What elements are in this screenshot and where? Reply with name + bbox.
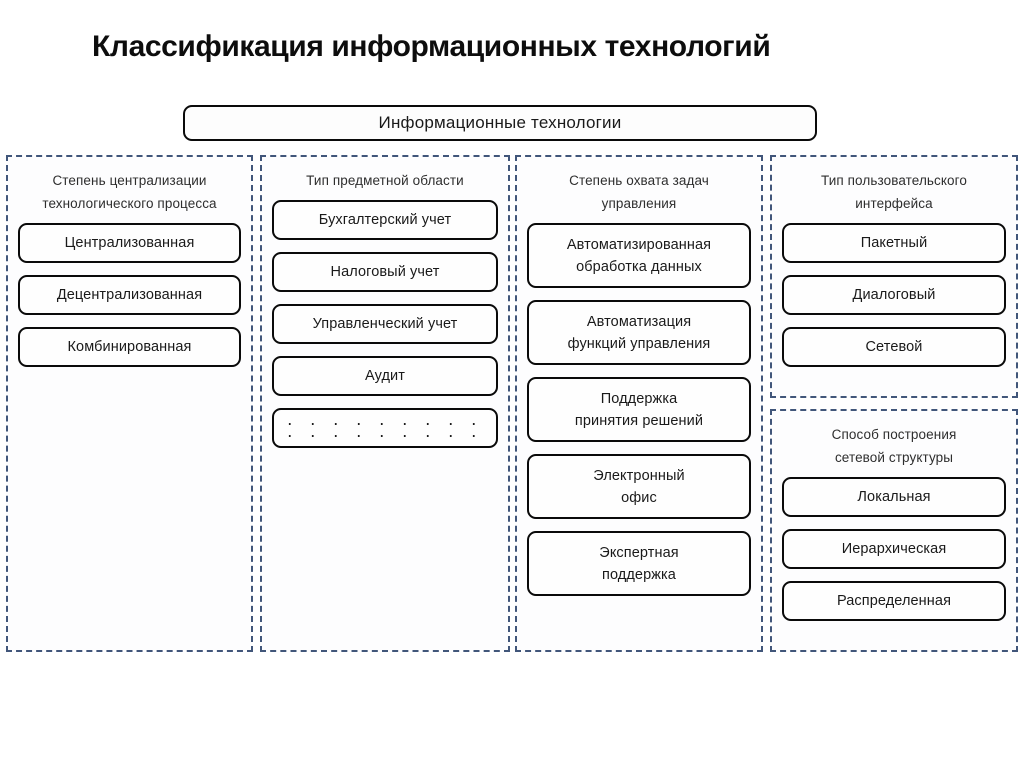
leaf-box[interactable]: Централизованная: [18, 223, 241, 263]
leaf-label-line-1: Экспертная: [599, 542, 678, 564]
leaf-box[interactable]: Управленческий учет: [272, 304, 498, 344]
leaf-box[interactable]: Иерархическая: [782, 529, 1006, 569]
leaf-box[interactable]: Автоматизированная обработка данных: [527, 223, 751, 288]
diagram-canvas: Классификация информационных технологий …: [0, 0, 1024, 768]
leaf-label: Пакетный: [857, 232, 932, 254]
group-title-centralization: Степень централизации технологического п…: [8, 157, 251, 223]
leaf-box[interactable]: Поддержка принятия решений: [527, 377, 751, 442]
leaf-box[interactable]: Диалоговый: [782, 275, 1006, 315]
leaf-box[interactable]: Бухгалтерский учет: [272, 200, 498, 240]
leaf-label: Сетевой: [861, 336, 926, 358]
group-title-line-1: Степень охвата задач: [523, 169, 755, 192]
group-title-line-1: Степень централизации: [14, 169, 245, 192]
leaf-label: Поддержка принятия решений: [571, 388, 707, 432]
leaf-box[interactable]: Комбинированная: [18, 327, 241, 367]
leaf-label: Аудит: [361, 365, 409, 387]
leaf-box[interactable]: Автоматизация функций управления: [527, 300, 751, 365]
group-title-line-2: интерфейса: [778, 192, 1010, 215]
leaf-label: . . . . . . . . . . . . . . . . . .: [274, 413, 496, 443]
leaf-label: Иерархическая: [838, 538, 951, 560]
leaf-label: Экспертная поддержка: [595, 542, 682, 586]
group-title-line-1: Тип пользовательского: [778, 169, 1010, 192]
group-title-line-1: Тип предметной области: [268, 169, 502, 192]
group-title-line-2: сетевой структуры: [778, 446, 1010, 469]
leaf-box[interactable]: Электронный офис: [527, 454, 751, 519]
leaf-label: Децентрализованная: [53, 284, 206, 306]
leaf-box[interactable]: Пакетный: [782, 223, 1006, 263]
group-title-user-interface: Тип пользовательского интерфейса: [772, 157, 1016, 223]
leaf-box[interactable]: Сетевой: [782, 327, 1006, 367]
leaf-label-line-2: обработка данных: [567, 256, 711, 278]
leaf-box[interactable]: Налоговый учет: [272, 252, 498, 292]
leaf-label: Диалоговый: [849, 284, 940, 306]
leaf-stack-user-interface: Пакетный Диалоговый Сетевой: [772, 223, 1016, 367]
leaf-label-line-1: Поддержка: [575, 388, 703, 410]
group-title-line-2: управления: [523, 192, 755, 215]
leaf-stack-network-build: Локальная Иерархическая Распределенная: [772, 477, 1016, 621]
group-title-subject-area: Тип предметной области: [262, 157, 508, 200]
leaf-label: Автоматизированная обработка данных: [563, 234, 715, 278]
leaf-box-ellipsis[interactable]: . . . . . . . . . . . . . . . . . .: [272, 408, 498, 448]
leaf-stack-centralization: Централизованная Децентрализованная Комб…: [8, 223, 251, 367]
leaf-box[interactable]: Децентрализованная: [18, 275, 241, 315]
group-title-coverage: Степень охвата задач управления: [517, 157, 761, 223]
leaf-label-line-1: Автоматизированная: [567, 234, 711, 256]
page-title: Классификация информационных технологий: [92, 30, 972, 64]
leaf-box[interactable]: Распределенная: [782, 581, 1006, 621]
leaf-box[interactable]: Локальная: [782, 477, 1006, 517]
leaf-label: Комбинированная: [64, 336, 196, 358]
group-panel-centralization: Степень централизации технологического п…: [6, 155, 253, 652]
leaf-label: Налоговый учет: [327, 261, 444, 283]
leaf-label-line-1: Автоматизация: [568, 311, 711, 333]
leaf-label: Распределенная: [833, 590, 955, 612]
root-node: Информационные технологии: [183, 105, 817, 141]
leaf-label-line-2: функций управления: [568, 333, 711, 355]
leaf-box[interactable]: Экспертная поддержка: [527, 531, 751, 596]
leaf-label: Автоматизация функций управления: [564, 311, 715, 355]
group-panel-subject-area: Тип предметной области Бухгалтерский уче…: [260, 155, 510, 652]
root-node-label: Информационные технологии: [379, 113, 622, 133]
leaf-label: Централизованная: [61, 232, 199, 254]
leaf-label: Бухгалтерский учет: [315, 209, 455, 231]
leaf-label: Управленческий учет: [309, 313, 462, 335]
leaf-label-line-2: офис: [593, 487, 684, 509]
group-title-line-1: Способ построения: [778, 423, 1010, 446]
leaf-label-line-2: принятия решений: [575, 410, 703, 432]
leaf-box[interactable]: Аудит: [272, 356, 498, 396]
leaf-stack-coverage: Автоматизированная обработка данных Авто…: [517, 223, 761, 596]
group-panel-network-build: Способ построения сетевой структуры Лока…: [770, 409, 1018, 652]
group-title-line-2: технологического процесса: [14, 192, 245, 215]
leaf-label-line-2: поддержка: [599, 564, 678, 586]
leaf-label: Локальная: [853, 486, 934, 508]
leaf-label: Электронный офис: [589, 465, 688, 509]
group-panel-coverage: Степень охвата задач управления Автомати…: [515, 155, 763, 652]
group-title-network-build: Способ построения сетевой структуры: [772, 411, 1016, 477]
leaf-stack-subject-area: Бухгалтерский учет Налоговый учет Управл…: [262, 200, 508, 448]
group-panel-user-interface: Тип пользовательского интерфейса Пакетны…: [770, 155, 1018, 398]
leaf-label-line-1: Электронный: [593, 465, 684, 487]
